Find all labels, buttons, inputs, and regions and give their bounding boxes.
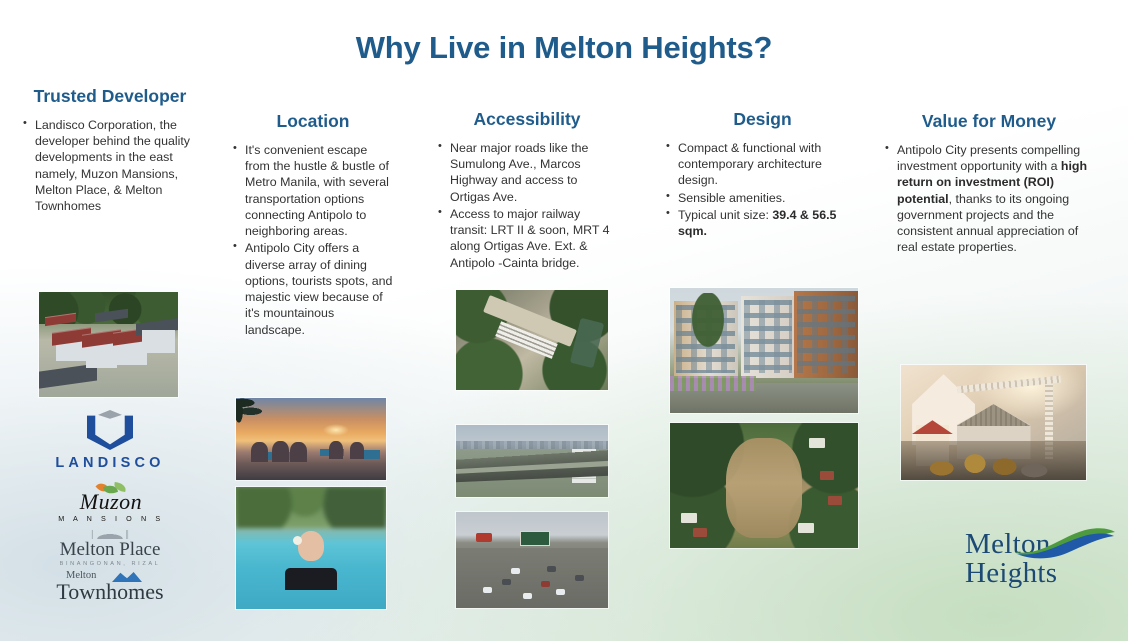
bullet-text: Antipolo City presents compelling invest… <box>897 143 1080 173</box>
melton-place-logo: Melton Place BINANGONAN, RIZAL <box>42 530 178 567</box>
bullet-text: Antipolo City offers a diverse array of … <box>245 241 392 336</box>
melton-townhomes-logo: Melton Townhomes <box>40 570 180 603</box>
column-heading-location: Location <box>232 111 394 133</box>
bullet-item: Near major roads like the Sumulong Ave.,… <box>437 140 617 205</box>
column-heading-design: Design <box>665 109 860 131</box>
muzon-mansions-logo: Muzon M A N S I O N S <box>52 483 170 523</box>
column-accessibility: Accessibility Near major roads like the … <box>437 84 617 272</box>
bridge-construction-aerial-photo <box>456 290 608 390</box>
bullet-text: Access to major railway transit: LRT II … <box>450 207 610 270</box>
bullet-item: Antipolo City presents compelling invest… <box>884 142 1094 256</box>
column-value-for-money: Value for Money Antipolo City presents c… <box>884 84 1094 257</box>
bullet-item: Landisco Corporation, the developer behi… <box>22 117 198 215</box>
elevated-railway-photo <box>456 425 608 497</box>
melton-place-wordmark: Melton Place <box>42 540 178 559</box>
leaf-icon <box>52 483 170 494</box>
sunset-rooftop-dining-photo <box>236 398 386 480</box>
column-heading-trusted-developer: Trusted Developer <box>22 86 198 108</box>
muzon-wordmark: Muzon <box>52 491 170 513</box>
bullet-list-value-for-money: Antipolo City presents compelling invest… <box>884 142 1094 256</box>
column-heading-accessibility: Accessibility <box>437 109 617 131</box>
bullet-list-accessibility: Near major roads like the Sumulong Ave.,… <box>437 140 617 271</box>
landisco-cube-icon <box>87 410 133 450</box>
melton-heights-line2: Heights <box>965 559 1115 588</box>
bullet-text: Compact & functional with contemporary a… <box>678 141 822 188</box>
bullet-text: Typical unit size: <box>678 208 772 222</box>
bullet-list-design: Compact & functional with contemporary a… <box>665 140 860 240</box>
bullet-item: Access to major railway transit: LRT II … <box>437 206 617 271</box>
column-trusted-developer: Trusted Developer Landisco Corporation, … <box>22 84 198 215</box>
column-heading-value-for-money: Value for Money <box>884 111 1094 133</box>
bullet-text: Sensible amenities. <box>678 191 785 205</box>
condominium-buildings-photo <box>670 288 858 413</box>
bullet-list-trusted-developer: Landisco Corporation, the developer behi… <box>22 117 198 215</box>
melton-townhomes-small-word: Melton <box>66 570 96 581</box>
page-title: Why Live in Melton Heights? <box>0 30 1128 66</box>
development-site-aerial-photo <box>670 423 858 548</box>
melton-townhomes-wordmark: Townhomes <box>40 581 180 603</box>
bullet-item: Typical unit size: 39.4 & 56.5 sqm. <box>665 207 860 240</box>
bullet-text: It's convenient escape from the hustle &… <box>245 143 389 238</box>
resort-pool-photo <box>236 487 386 609</box>
melton-place-subtitle: BINANGONAN, RIZAL <box>42 561 178 567</box>
crest-icon <box>89 530 131 539</box>
bullet-item: Compact & functional with contemporary a… <box>665 140 860 189</box>
bullet-item: It's convenient escape from the hustle &… <box>232 142 394 240</box>
muzon-subtitle: M A N S I O N S <box>52 514 170 523</box>
column-design: Design Compact & functional with contemp… <box>665 84 860 240</box>
bullet-list-location: It's convenient escape from the hustle &… <box>232 142 394 338</box>
landisco-wordmark: LANDISCO <box>55 455 165 471</box>
highway-traffic-photo <box>456 512 608 608</box>
real-estate-investment-photo <box>901 365 1086 480</box>
column-location: Location It's convenient escape from the… <box>232 84 394 339</box>
aerial-townhouse-development-photo <box>39 292 178 397</box>
bullet-item: Sensible amenities. <box>665 190 860 206</box>
bullet-text: Near major roads like the Sumulong Ave.,… <box>450 141 588 204</box>
slide-canvas: Why Live in Melton Heights? Trusted Deve… <box>0 0 1128 641</box>
landisco-logo: LANDISCO <box>55 410 165 471</box>
mountain-peaks-icon <box>112 572 142 582</box>
bullet-item: Antipolo City offers a diverse array of … <box>232 240 394 338</box>
bullet-text: Landisco Corporation, the developer behi… <box>35 118 190 213</box>
wave-swoosh-icon <box>1013 526 1117 562</box>
melton-heights-logo: Melton Heights <box>965 530 1115 587</box>
